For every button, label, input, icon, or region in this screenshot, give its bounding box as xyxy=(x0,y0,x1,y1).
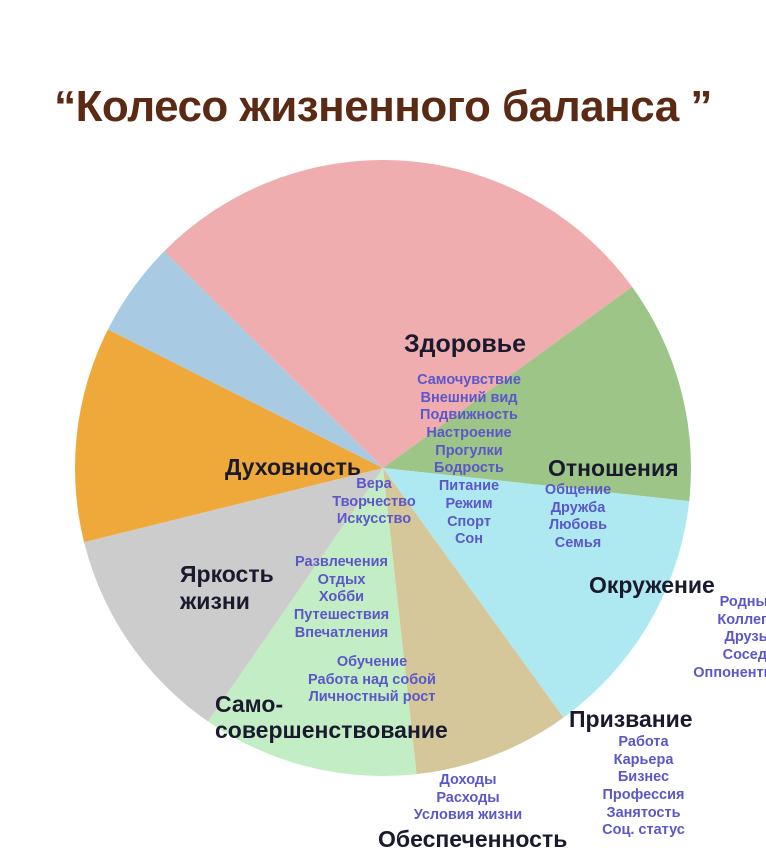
item: Сон xyxy=(405,531,533,549)
item: Хобби xyxy=(279,589,404,607)
item: Творчество xyxy=(324,494,424,512)
item: Бизнес xyxy=(591,769,696,787)
item: Питание xyxy=(405,478,533,496)
segment-items-health: Самочувствие Внешний вид Подвижность Нас… xyxy=(405,372,533,549)
segment-label-relationships: Отношения xyxy=(548,457,679,480)
item: Развлечения xyxy=(279,554,404,572)
segment-label-prosperity: Обеспеченность xyxy=(378,828,567,851)
segment-label-brightness: Яркость жизни xyxy=(180,561,274,615)
item: Отдых xyxy=(279,572,404,590)
item: Подвижность xyxy=(405,407,533,425)
item: Соседи xyxy=(666,647,766,665)
segment-label-calling: Призвание xyxy=(569,708,693,731)
item: Коллеги xyxy=(666,612,766,630)
item: Вера xyxy=(324,476,424,494)
item: Доходы xyxy=(408,772,528,790)
segment-label-brightness-line2: жизни xyxy=(180,588,274,615)
segment-items-environment: Родные Коллеги Друзья Соседи Оппоненты xyxy=(666,594,766,682)
item: Искусство xyxy=(324,511,424,529)
segment-items-spirituality: Вера Творчество Искусство xyxy=(324,476,424,529)
item: Расходы xyxy=(408,790,528,808)
item: Спорт xyxy=(405,514,533,532)
item: Любовь xyxy=(523,517,633,535)
item: Занятость xyxy=(591,805,696,823)
item: Работа xyxy=(591,734,696,752)
item: Прогулки xyxy=(405,443,533,461)
item: Работа над собой xyxy=(297,672,447,690)
item: Условия жизни xyxy=(408,807,528,825)
item: Профессия xyxy=(591,787,696,805)
segment-items-prosperity: Доходы Расходы Условия жизни xyxy=(408,772,528,825)
item: Настроение xyxy=(405,425,533,443)
life-balance-wheel: Здоровье Самочувствие Внешний вид Подвиж… xyxy=(75,160,691,776)
item: Бодрость xyxy=(405,460,533,478)
page-title: “Колесо жизненного баланса ” xyxy=(0,82,766,132)
segment-items-relationships: Общение Дружба Любовь Семья xyxy=(523,482,633,553)
segment-label-selfdev-line2: совершенствование xyxy=(215,717,448,743)
segment-items-brightness: Развлечения Отдых Хобби Путешествия Впеч… xyxy=(279,554,404,642)
item: Самочувствие xyxy=(405,372,533,390)
segment-items-selfdev: Обучение Работа над собой Личностный рос… xyxy=(297,654,447,707)
item: Соц. статус xyxy=(591,822,696,840)
item: Родные xyxy=(666,594,766,612)
item: Внешний вид xyxy=(405,390,533,408)
segment-items-calling: Работа Карьера Бизнес Профессия Занятост… xyxy=(591,734,696,840)
item: Дружба xyxy=(523,500,633,518)
item: Обучение xyxy=(297,654,447,672)
item: Общение xyxy=(523,482,633,500)
item: Друзья xyxy=(666,629,766,647)
item: Режим xyxy=(405,496,533,514)
item: Семья xyxy=(523,535,633,553)
item: Впечатления xyxy=(279,625,404,643)
item: Оппоненты xyxy=(666,665,766,683)
item: Личностный рост xyxy=(297,689,447,707)
segment-label-brightness-line1: Яркость xyxy=(180,561,274,588)
item: Путешествия xyxy=(279,607,404,625)
segment-label-health: Здоровье xyxy=(404,332,526,358)
